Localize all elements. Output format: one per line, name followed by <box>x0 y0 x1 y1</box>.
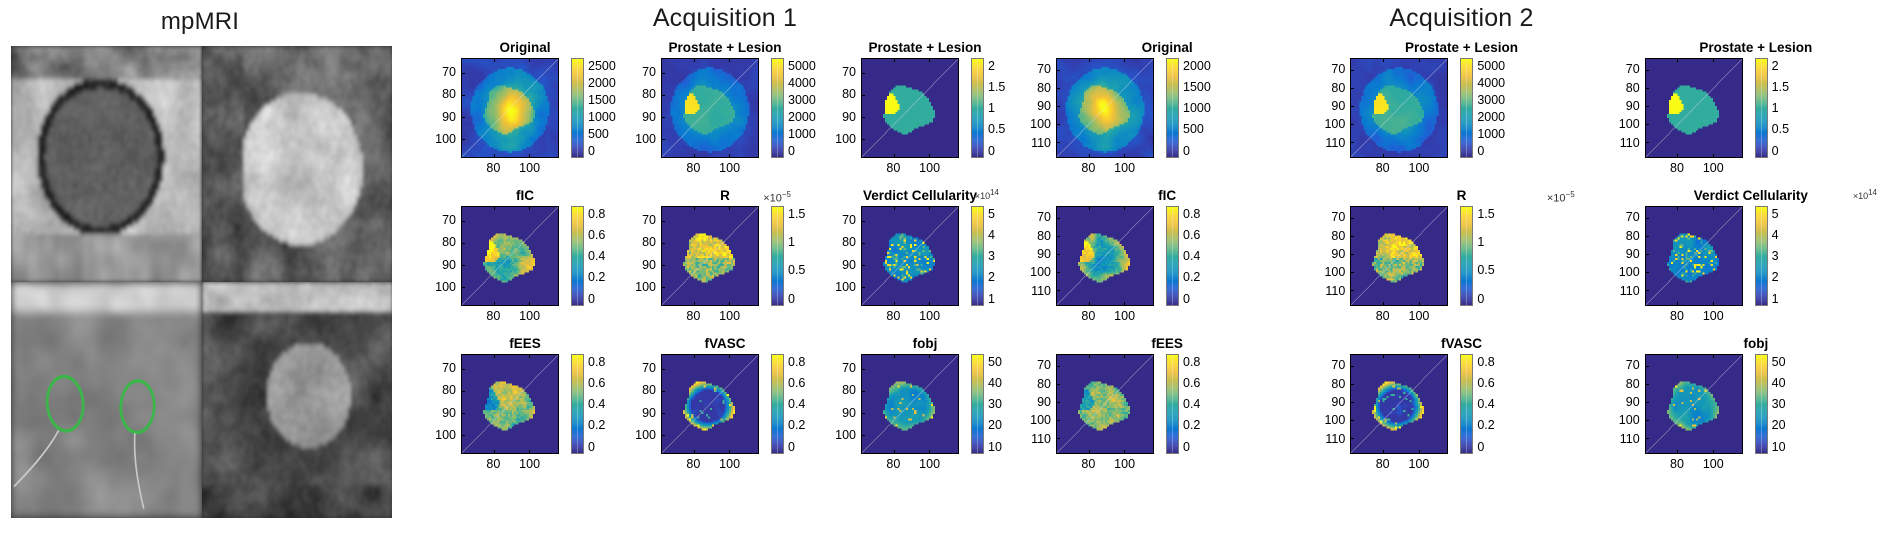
y-tick-label: 80 <box>1331 229 1345 243</box>
y-axis-tick-labels: 708090100 <box>425 206 459 306</box>
colorbar-tick-label: 0.6 <box>588 376 605 390</box>
y-tick-label: 110 <box>1620 432 1640 446</box>
colorbar-tick-label: 1000 <box>1477 127 1505 141</box>
colorbar-tick-label: 2 <box>988 59 995 73</box>
colorbar-tick-label: 30 <box>1772 397 1786 411</box>
colorbar <box>1460 354 1473 454</box>
x-tick-mark <box>529 450 530 453</box>
y-tick-label: 100 <box>635 428 656 442</box>
y-tick-label: 70 <box>842 65 856 79</box>
colorbar-tick-label: 40 <box>1772 376 1786 390</box>
x-tick-mark <box>1124 355 1125 358</box>
colorbar-tick-label: 30 <box>988 397 1002 411</box>
colorbar <box>971 354 984 454</box>
x-tick-label: 100 <box>1703 309 1724 323</box>
x-tick-mark <box>1383 154 1384 157</box>
x-tick-mark <box>1677 59 1678 62</box>
x-tick-mark <box>494 207 495 210</box>
colorbar-tick-label: 2500 <box>588 59 616 73</box>
x-tick-label: 100 <box>1114 161 1135 175</box>
x-tick-label: 100 <box>719 161 740 175</box>
y-tick-mark <box>662 391 665 392</box>
acquisition-panel-grid: Original70809010011080100200015001000500… <box>1020 40 1903 484</box>
y-tick-mark <box>1646 290 1649 291</box>
x-axis-tick-labels: 80100 <box>1350 160 1448 178</box>
panel-fvasc[interactable]: fVASC708090100110801000.80.60.40.20 <box>1314 336 1608 484</box>
x-axis-tick-labels: 80100 <box>861 456 959 474</box>
colorbar-tick-labels: 500040003000200010000 <box>1477 58 1523 158</box>
colorbar <box>571 58 584 158</box>
x-tick-label: 100 <box>519 309 540 323</box>
colorbar-tick-labels: 0.80.60.40.20 <box>1477 354 1523 454</box>
y-tick-label: 90 <box>1037 99 1051 113</box>
y-tick-mark <box>1646 402 1649 403</box>
y-tick-mark <box>1057 290 1060 291</box>
x-axis-tick-labels: 80100 <box>1056 456 1154 474</box>
colorbar-tick-label: 2000 <box>1183 59 1211 73</box>
x-axis-tick-labels: 80100 <box>861 160 959 178</box>
x-tick-mark <box>1713 355 1714 358</box>
plot-area: 708090100801001.510.50 <box>625 206 825 326</box>
y-tick-mark <box>1057 124 1060 125</box>
x-tick-mark <box>1383 355 1384 358</box>
x-tick-mark <box>694 302 695 305</box>
y-tick-label: 70 <box>1331 62 1345 76</box>
image-axes[interactable] <box>1056 58 1154 158</box>
image-axes[interactable] <box>861 354 959 454</box>
y-tick-mark <box>862 73 865 74</box>
y-tick-label: 80 <box>1037 81 1051 95</box>
y-axis-tick-labels: 708090100110 <box>1609 206 1643 306</box>
colorbar-exponent-label: ×10−5 <box>1547 190 1575 205</box>
colorbar-tick-label: 5 <box>1772 207 1779 221</box>
plot-area: 7080901001108010054321 <box>1609 206 1903 326</box>
x-tick-label: 80 <box>486 457 500 471</box>
x-tick-mark <box>1383 450 1384 453</box>
colorbar <box>771 58 784 158</box>
y-tick-label: 100 <box>435 280 456 294</box>
y-tick-label: 100 <box>1030 413 1051 427</box>
y-tick-label: 70 <box>1037 210 1051 224</box>
y-tick-mark <box>862 287 865 288</box>
y-tick-mark <box>662 117 665 118</box>
colorbar-tick-label: 0.4 <box>1183 249 1200 263</box>
x-tick-mark <box>894 59 895 62</box>
y-tick-mark <box>662 243 665 244</box>
panel-overlay[interactable]: Prostate + Lesion70809010011080100500040… <box>1314 40 1608 188</box>
panel-title: fIC <box>425 188 625 203</box>
x-tick-mark <box>694 59 695 62</box>
colorbar-tick-label: 1000 <box>588 110 616 124</box>
y-tick-mark <box>862 95 865 96</box>
y-tick-label: 80 <box>842 383 856 397</box>
image-axes[interactable] <box>1645 58 1743 158</box>
y-tick-label: 110 <box>1031 284 1051 298</box>
image-axes[interactable] <box>461 58 559 158</box>
x-tick-mark <box>694 154 695 157</box>
colorbar <box>1166 58 1179 158</box>
y-tick-mark <box>1057 106 1060 107</box>
colorbar-tick-label: 0.6 <box>588 228 605 242</box>
y-tick-mark <box>1351 218 1354 219</box>
image-axes[interactable] <box>1645 206 1743 306</box>
y-tick-label: 90 <box>642 406 656 420</box>
x-axis-tick-labels: 80100 <box>461 308 559 326</box>
y-tick-mark <box>1646 236 1649 237</box>
colorbar-tick-label: 3000 <box>1477 93 1505 107</box>
plot-area: 708090100801005040302010 <box>825 354 1025 474</box>
y-axis-tick-labels: 708090100110 <box>1020 206 1054 306</box>
y-tick-mark <box>1351 438 1354 439</box>
panel-title: fIC <box>1020 188 1314 203</box>
colorbar <box>771 354 784 454</box>
y-tick-mark <box>862 221 865 222</box>
y-tick-mark <box>1646 142 1649 143</box>
x-tick-mark <box>1419 355 1420 358</box>
colorbar-exponent-label: ×10−5 <box>763 190 791 205</box>
y-axis-tick-labels: 708090100110 <box>1314 206 1348 306</box>
colorbar-tick-label: 0 <box>788 440 795 454</box>
colorbar-tick-label: 4 <box>988 228 995 242</box>
y-tick-label: 70 <box>442 213 456 227</box>
x-tick-label: 100 <box>919 457 940 471</box>
x-tick-mark <box>529 207 530 210</box>
x-tick-mark <box>1677 207 1678 210</box>
y-tick-label: 80 <box>842 235 856 249</box>
colorbar-tick-label: 0.8 <box>1477 355 1494 369</box>
plot-area: 7080901008010054321 <box>825 206 1025 326</box>
y-tick-label: 110 <box>1031 432 1051 446</box>
x-tick-mark <box>1713 302 1714 305</box>
colorbar-tick-label: 0.2 <box>788 418 805 432</box>
colorbar-tick-label: 0 <box>988 144 995 158</box>
y-tick-mark <box>462 265 465 266</box>
colorbar-tick-label: 0.4 <box>788 397 805 411</box>
colorbar-tick-label: 0 <box>588 292 595 306</box>
colorbar <box>1755 354 1768 454</box>
colorbar-tick-labels: 0.80.60.40.20 <box>1183 206 1229 306</box>
colorbar-tick-label: 20 <box>1772 418 1786 432</box>
image-axes[interactable] <box>461 206 559 306</box>
colorbar-tick-label: 1.5 <box>1772 80 1789 94</box>
panel-title: fEES <box>425 336 625 351</box>
panel-fic[interactable]: fIC708090100110801000.80.60.40.20 <box>1020 188 1314 336</box>
x-tick-label: 100 <box>919 161 940 175</box>
x-tick-mark <box>894 450 895 453</box>
x-tick-label: 80 <box>486 161 500 175</box>
colorbar-tick-label: 3 <box>1772 249 1779 263</box>
x-tick-label: 80 <box>1376 161 1390 175</box>
y-tick-label: 90 <box>442 258 456 272</box>
x-tick-label: 80 <box>1081 457 1095 471</box>
y-tick-label: 80 <box>1331 377 1345 391</box>
y-tick-mark <box>462 435 465 436</box>
y-tick-label: 70 <box>642 65 656 79</box>
colorbar-tick-label: 40 <box>988 376 1002 390</box>
colorbar-tick-label: 1 <box>1772 101 1779 115</box>
colorbar-tick-labels: 21.510.50 <box>1772 58 1818 158</box>
y-tick-mark <box>1351 420 1354 421</box>
y-tick-mark <box>462 221 465 222</box>
y-tick-mark <box>1646 272 1649 273</box>
panel-cellularity[interactable]: Verdict Cellularity×10147080901008010054… <box>825 188 1025 336</box>
y-tick-label: 110 <box>1620 284 1640 298</box>
panel-mask[interactable]: Prostate + Lesion7080901001108010021.510… <box>1609 40 1903 188</box>
image-axes[interactable] <box>861 58 959 158</box>
colorbar-tick-label: 1500 <box>1183 80 1211 94</box>
x-axis-tick-labels: 80100 <box>1645 308 1743 326</box>
y-tick-label: 90 <box>842 406 856 420</box>
y-tick-label: 70 <box>642 213 656 227</box>
colorbar-tick-labels: 2000150010005000 <box>1183 58 1229 158</box>
colorbar-tick-label: 1500 <box>588 93 616 107</box>
y-tick-label: 80 <box>642 383 656 397</box>
panel-overlay[interactable]: Prostate + Lesion70809010080100500040003… <box>625 40 825 188</box>
x-tick-mark <box>1124 59 1125 62</box>
panel-mask[interactable]: Prostate + Lesion7080901008010021.510.50 <box>825 40 1025 188</box>
colorbar-exponent-label: ×1014 <box>1853 188 1877 201</box>
colorbar-tick-label: 0.2 <box>588 270 605 284</box>
y-tick-label: 80 <box>842 87 856 101</box>
colorbar-tick-label: 1.5 <box>1477 207 1494 221</box>
colorbar-tick-label: 0.4 <box>1477 397 1494 411</box>
panel-rmap[interactable]: R×10−5708090100801001.510.50 <box>625 188 825 336</box>
x-tick-mark <box>1677 302 1678 305</box>
y-tick-label: 90 <box>1626 99 1640 113</box>
y-tick-mark <box>462 413 465 414</box>
image-axes[interactable] <box>1350 58 1448 158</box>
y-tick-label: 110 <box>1325 136 1345 150</box>
image-axes[interactable] <box>861 206 959 306</box>
colorbar-tick-label: 0.8 <box>1183 355 1200 369</box>
plot-area: 708090100110801000.80.60.40.20 <box>1314 354 1608 474</box>
acquisition-title: Acquisition 2 <box>1020 4 1903 33</box>
colorbar-tick-label: 10 <box>988 440 1002 454</box>
x-axis-tick-labels: 80100 <box>1056 160 1154 178</box>
panel-fobj[interactable]: fobj708090100110801005040302010 <box>1609 336 1903 484</box>
colorbar-tick-label: 0.6 <box>1183 376 1200 390</box>
colorbar-tick-label: 1 <box>1772 292 1779 306</box>
y-tick-mark <box>862 265 865 266</box>
y-tick-label: 80 <box>642 235 656 249</box>
y-tick-mark <box>1646 88 1649 89</box>
image-axes[interactable] <box>1056 354 1154 454</box>
colorbar-tick-label: 50 <box>1772 355 1786 369</box>
panel-title: Prostate + Lesion <box>625 40 825 55</box>
y-tick-label: 100 <box>1619 117 1640 131</box>
y-tick-mark <box>1351 106 1354 107</box>
image-axes[interactable] <box>1645 354 1743 454</box>
y-tick-label: 80 <box>442 87 456 101</box>
y-tick-mark <box>1646 70 1649 71</box>
panel-title: fobj <box>1609 336 1903 351</box>
y-tick-mark <box>662 73 665 74</box>
x-tick-label: 80 <box>886 161 900 175</box>
colorbar-tick-label: 0.5 <box>1477 263 1494 277</box>
colorbar-tick-label: 1000 <box>1183 101 1211 115</box>
x-tick-mark <box>494 154 495 157</box>
x-tick-label: 100 <box>719 309 740 323</box>
panel-anatomy[interactable]: Original70809010011080100200015001000500… <box>1020 40 1314 188</box>
y-tick-mark <box>1057 366 1060 367</box>
colorbar-tick-label: 0.4 <box>1183 397 1200 411</box>
y-tick-label: 70 <box>642 361 656 375</box>
mpmri-panel-dwi-zoom <box>202 282 393 518</box>
colorbar-tick-label: 0.4 <box>588 397 605 411</box>
y-tick-label: 100 <box>635 280 656 294</box>
x-axis-tick-labels: 80100 <box>861 308 959 326</box>
y-tick-mark <box>862 369 865 370</box>
y-tick-mark <box>1351 272 1354 273</box>
x-tick-mark <box>494 450 495 453</box>
plot-area: 708090100110801000.80.60.40.20 <box>1020 206 1314 326</box>
x-tick-mark <box>694 450 695 453</box>
y-axis-tick-labels: 708090100110 <box>1609 354 1643 454</box>
y-tick-label: 100 <box>1619 265 1640 279</box>
y-tick-mark <box>462 95 465 96</box>
y-tick-label: 70 <box>1037 358 1051 372</box>
colorbar <box>771 206 784 306</box>
plot-area: 7080901001108010021.510.50 <box>1609 58 1903 178</box>
x-tick-label: 100 <box>1408 309 1429 323</box>
y-tick-label: 70 <box>842 361 856 375</box>
y-tick-label: 90 <box>842 110 856 124</box>
colorbar-tick-label: 5 <box>988 207 995 221</box>
x-axis-tick-labels: 80100 <box>1645 456 1743 474</box>
y-tick-mark <box>1351 290 1354 291</box>
plot-area: 70809010080100500040003000200010000 <box>625 58 825 178</box>
image-axes[interactable] <box>661 58 759 158</box>
y-tick-label: 70 <box>1626 358 1640 372</box>
x-tick-label: 100 <box>1408 161 1429 175</box>
panel-title: Original <box>1020 40 1314 55</box>
x-tick-mark <box>729 450 730 453</box>
y-tick-mark <box>662 435 665 436</box>
panel-fvasc[interactable]: fVASC708090100801000.80.60.40.20 <box>625 336 825 484</box>
x-tick-label: 80 <box>686 309 700 323</box>
image-axes[interactable] <box>661 354 759 454</box>
colorbar-tick-label: 0 <box>788 292 795 306</box>
y-tick-mark <box>1351 236 1354 237</box>
x-tick-label: 100 <box>519 457 540 471</box>
y-tick-label: 90 <box>442 110 456 124</box>
image-axes[interactable] <box>1350 354 1448 454</box>
y-tick-label: 100 <box>1324 265 1345 279</box>
y-tick-label: 70 <box>1626 62 1640 76</box>
colorbar-tick-label: 2000 <box>1477 110 1505 124</box>
image-axes[interactable] <box>461 354 559 454</box>
colorbar-tick-label: 0.2 <box>1183 270 1200 284</box>
colorbar-tick-label: 4 <box>1772 228 1779 242</box>
y-tick-label: 80 <box>1331 81 1345 95</box>
x-tick-mark <box>694 207 695 210</box>
panel-title: fEES <box>1020 336 1314 351</box>
y-tick-mark <box>662 287 665 288</box>
y-tick-mark <box>462 287 465 288</box>
y-tick-mark <box>862 243 865 244</box>
y-axis-tick-labels: 708090100110 <box>1314 354 1348 454</box>
colorbar-tick-label: 2000 <box>788 110 816 124</box>
acquisition-title: Acquisition 1 <box>425 4 1025 33</box>
colorbar-tick-label: 2 <box>988 270 995 284</box>
colorbar <box>571 354 584 454</box>
panel-title: Original <box>425 40 625 55</box>
y-tick-mark <box>1646 366 1649 367</box>
colorbar-tick-label: 0.2 <box>1477 418 1494 432</box>
y-axis-tick-labels: 708090100 <box>625 58 659 158</box>
panel-rmap[interactable]: R×10−5708090100110801001.510.50 <box>1314 188 1608 336</box>
colorbar-tick-label: 0 <box>1183 144 1190 158</box>
y-tick-label: 100 <box>435 132 456 146</box>
y-tick-label: 100 <box>835 132 856 146</box>
x-tick-mark <box>1677 154 1678 157</box>
mpmri-panel-adc-map <box>11 282 202 518</box>
x-tick-label: 80 <box>1081 161 1095 175</box>
panel-fic[interactable]: fIC708090100801000.80.60.40.20 <box>425 188 625 336</box>
image-axes[interactable] <box>661 206 759 306</box>
colorbar-tick-label: 4000 <box>1477 76 1505 90</box>
x-tick-mark <box>894 207 895 210</box>
y-tick-label: 90 <box>642 110 656 124</box>
x-tick-label: 100 <box>1114 309 1135 323</box>
colorbar-tick-label: 0.2 <box>1183 418 1200 432</box>
x-tick-mark <box>694 355 695 358</box>
x-tick-label: 80 <box>686 161 700 175</box>
panel-anatomy[interactable]: Original70809010080100250020001500100050… <box>425 40 625 188</box>
y-axis-tick-labels: 708090100110 <box>1314 58 1348 158</box>
x-axis-tick-labels: 80100 <box>661 456 759 474</box>
colorbar-tick-label: 0 <box>1183 440 1190 454</box>
x-tick-mark <box>1089 302 1090 305</box>
colorbar-tick-label: 0 <box>1477 292 1484 306</box>
x-tick-mark <box>1089 154 1090 157</box>
x-tick-mark <box>529 302 530 305</box>
y-tick-label: 100 <box>1619 413 1640 427</box>
y-tick-label: 110 <box>1620 136 1640 150</box>
colorbar-tick-label: 500 <box>588 127 609 141</box>
y-tick-mark <box>1351 402 1354 403</box>
acquisition-2-section: Acquisition 2Original7080901001108010020… <box>1020 0 1903 538</box>
x-tick-mark <box>1713 207 1714 210</box>
y-tick-mark <box>462 391 465 392</box>
image-axes[interactable] <box>1056 206 1154 306</box>
image-axes[interactable] <box>1350 206 1448 306</box>
colorbar-tick-label: 500 <box>1183 122 1204 136</box>
colorbar-tick-label: 0 <box>1183 292 1190 306</box>
y-tick-mark <box>1646 218 1649 219</box>
panel-fees[interactable]: fEES708090100801000.80.60.40.20 <box>425 336 625 484</box>
y-tick-mark <box>1351 254 1354 255</box>
plot-area: 708090100110801001.510.50 <box>1314 206 1608 326</box>
mpmri-title: mpMRI <box>0 8 400 36</box>
x-axis-tick-labels: 80100 <box>661 160 759 178</box>
colorbar <box>571 206 584 306</box>
x-tick-label: 80 <box>886 457 900 471</box>
x-tick-mark <box>1089 450 1090 453</box>
y-tick-label: 90 <box>1626 247 1640 261</box>
x-tick-label: 80 <box>686 457 700 471</box>
y-tick-label: 80 <box>1037 377 1051 391</box>
colorbar-tick-labels: 54321 <box>1772 206 1818 306</box>
panel-fobj[interactable]: fobj708090100801005040302010 <box>825 336 1025 484</box>
colorbar-tick-label: 0 <box>1772 144 1779 158</box>
mpmri-panel-t2w-axial <box>11 46 202 282</box>
x-axis-tick-labels: 80100 <box>661 308 759 326</box>
panel-cellularity[interactable]: Verdict Cellularity×10147080901001108010… <box>1609 188 1903 336</box>
panel-fees[interactable]: fEES708090100110801000.80.60.40.20 <box>1020 336 1314 484</box>
colorbar-exponent-label: ×1014 <box>975 188 999 201</box>
x-tick-mark <box>529 154 530 157</box>
